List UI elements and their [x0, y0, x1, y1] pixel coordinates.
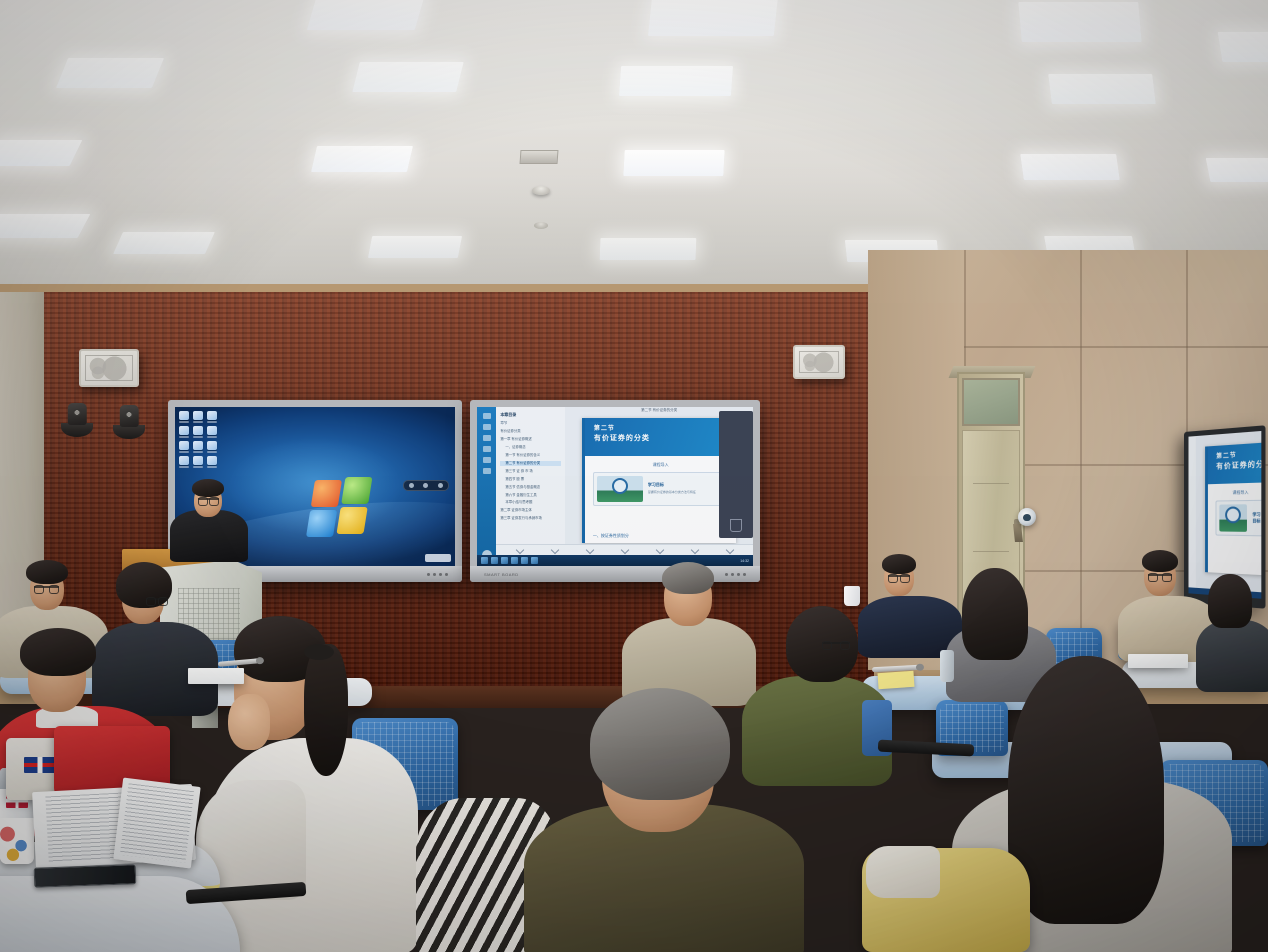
attendee-hair: [662, 562, 714, 594]
ceiling-light-panel: [1048, 74, 1156, 104]
slide-body: 课程导入 学习目标 掌握有价证券的基本分类方法与特征 一、按证券性质划分: [585, 456, 737, 544]
printed-handout-page[interactable]: [113, 778, 200, 869]
save-icon[interactable]: [483, 446, 491, 452]
water-bottle[interactable]: [940, 650, 954, 682]
right-interactive-whiteboard[interactable]: 本章目录 章节 有价证券分类 第一章 有价证券概述 一、证券概念 第一节 有价证…: [470, 400, 760, 582]
side-slide-card: 学习目标: [1215, 500, 1261, 537]
camera-bracket: [61, 423, 93, 437]
slide-title: 有价证券的分类: [594, 433, 737, 443]
camera-lens-icon: [125, 411, 132, 418]
desktop-icon-grid[interactable]: [179, 411, 217, 468]
file-icon[interactable]: [483, 413, 491, 419]
nav-item[interactable]: 第六节 金融衍生工具: [500, 493, 561, 498]
tool-icon[interactable]: [585, 546, 593, 554]
wall-speaker-left: [79, 349, 139, 387]
board-brand-label: SMART BOARD: [484, 572, 519, 577]
print-icon[interactable]: [483, 457, 491, 463]
desktop-icon[interactable]: [179, 456, 189, 468]
nav-item[interactable]: 一、证券概念: [500, 445, 561, 450]
ceiling-light-panel: [0, 214, 90, 238]
nav-item[interactable]: 第五节 债券与基金概念: [500, 485, 561, 490]
taskbar-app-icon[interactable]: [491, 557, 498, 564]
stone-seam: [1080, 250, 1082, 670]
nav-item[interactable]: 第一节 有价证券的含义: [500, 453, 561, 458]
ceiling-sensor-icon: [534, 222, 548, 229]
attendee-hair: [962, 568, 1028, 660]
screen-corner-widget[interactable]: [425, 554, 451, 562]
start-button[interactable]: [481, 557, 488, 564]
slide-footer: 一、按证券性质划分: [593, 533, 629, 539]
desktop-icon[interactable]: [193, 456, 203, 468]
desktop-icon[interactable]: [193, 426, 203, 438]
attendee-glasses-icon: [146, 598, 168, 600]
tool-icon[interactable]: [690, 546, 698, 554]
desktop-icon[interactable]: [193, 441, 203, 453]
hair-tie: [304, 644, 334, 660]
trash-icon[interactable]: [730, 519, 742, 532]
side-thumb-image: [1219, 504, 1247, 532]
ptz-camera-2: [113, 405, 145, 439]
slide-side-panel[interactable]: [719, 411, 753, 538]
coat-lining: [866, 846, 940, 898]
slide-card: 学习目标 掌握有价证券的基本分类方法与特征: [593, 472, 729, 506]
nav-item-selected[interactable]: 第二节 有价证券的分类: [500, 461, 561, 466]
nav-item[interactable]: 本章小结与思考题: [500, 500, 561, 505]
tool-icon[interactable]: [620, 546, 628, 554]
desktop-icon[interactable]: [207, 456, 217, 468]
app-left-rail[interactable]: [477, 407, 496, 566]
smoke-detector-icon: [532, 186, 550, 195]
board-button-row[interactable]: [427, 573, 448, 576]
ptz-camera-1: [61, 403, 93, 437]
tool-icon[interactable]: [725, 546, 733, 554]
presenter: [170, 478, 248, 558]
taskbar-app-icon[interactable]: [511, 557, 518, 564]
speaker-grill: [85, 355, 133, 381]
ceiling-light-panel: [0, 140, 82, 166]
door-transom-window: [962, 378, 1020, 426]
presentation-app[interactable]: 本章目录 章节 有价证券分类 第一章 有价证券概述 一、证券概念 第一节 有价证…: [477, 407, 753, 566]
presenter-hair: [192, 479, 224, 497]
nav-item[interactable]: 第三节 证 券 市 场: [500, 469, 561, 474]
ceiling-light-panel: [619, 66, 733, 96]
side-slide-title: 有价证券的分类: [1216, 458, 1261, 471]
floating-toolbar[interactable]: [403, 480, 449, 491]
ceiling-light-panel: [311, 146, 413, 172]
ceiling-light-panel: [623, 150, 724, 176]
ceiling-light-panel: [113, 232, 215, 254]
desktop-icon[interactable]: [207, 441, 217, 453]
camera-lens-icon: [73, 409, 80, 416]
ceiling-light-panel: [600, 238, 697, 260]
slide-caption: 课程导入: [593, 462, 729, 468]
nav-subheader: 章节: [500, 421, 561, 426]
slide-thumbnail-image: [597, 476, 643, 502]
wall-speaker-right: [793, 345, 845, 379]
open-icon[interactable]: [483, 435, 491, 441]
presenter-glasses-icon: [198, 498, 219, 500]
attendee-glasses-icon: [34, 586, 59, 588]
outline-nav-pane[interactable]: 本章目录 章节 有价证券分类 第一章 有价证券概述 一、证券概念 第一节 有价证…: [496, 407, 565, 566]
attendee-hair: [1008, 656, 1164, 924]
desktop-icon[interactable]: [179, 441, 189, 453]
share-icon[interactable]: [483, 468, 491, 474]
smartphone[interactable]: [34, 864, 137, 888]
nav-item[interactable]: 第一章 有价证券概述: [500, 437, 561, 442]
slide-title-band: 第二节 有价证券的分类: [585, 418, 737, 456]
nav-item[interactable]: 第三章 证券发行与承销市场: [500, 516, 561, 521]
menu-icon[interactable]: [438, 483, 443, 488]
camera-body: [120, 405, 139, 427]
paper-cup: [844, 586, 860, 606]
ceiling-light-panel: [648, 0, 778, 36]
attendee-glasses-icon: [888, 575, 910, 577]
attendee-hand: [228, 694, 270, 750]
desktop-icon[interactable]: [179, 411, 189, 423]
ceiling-light-panel: [352, 62, 463, 92]
eraser-icon[interactable]: [423, 483, 428, 488]
ceiling-light-panel: [1218, 32, 1268, 62]
slide-eyebrow: 第二节: [594, 423, 737, 432]
mug-pattern: [0, 818, 34, 864]
document-on-table: [1128, 654, 1188, 668]
attendee-hair: [20, 628, 96, 676]
presenter-torso: [170, 510, 248, 562]
side-slide-band: 第二节 有价证券的分类: [1208, 442, 1262, 484]
attendee-glasses-icon: [822, 642, 850, 644]
taskbar-app-icon[interactable]: [531, 557, 538, 564]
camera-bracket: [113, 425, 145, 439]
ceiling-light-panel: [1020, 154, 1120, 180]
attendee-hair: [26, 560, 68, 584]
attendee-hair: [1208, 574, 1252, 628]
side-card-title: 学习目标: [1252, 511, 1261, 524]
new-icon[interactable]: [483, 424, 491, 430]
camera-body: [68, 403, 87, 425]
nav-item[interactable]: 第四节 股 票: [500, 477, 561, 482]
nav-item[interactable]: 第二章 证券市场主体: [500, 508, 561, 513]
attendee-hair: [590, 688, 730, 800]
nav-current-doc[interactable]: 有价证券分类: [500, 429, 561, 434]
desktop-icon[interactable]: [207, 426, 217, 438]
tool-icon[interactable]: [516, 546, 524, 554]
desktop-icon[interactable]: [207, 411, 217, 423]
nav-header: 本章目录: [500, 412, 561, 418]
attendee-foreground-center: [524, 686, 804, 952]
classroom-scene: SMART BOARD 本章目录 章节 有价证券分类: [0, 0, 1268, 952]
ceiling-light-panel: [368, 236, 462, 258]
slide-canvas[interactable]: 第二节 有价证券的分类 第二节 有价证券的分类 课程导入 学习目标: [565, 407, 753, 566]
document-on-table: [188, 668, 244, 684]
handout-text-lines: [120, 783, 194, 863]
attendee-hair: [882, 554, 916, 574]
current-slide[interactable]: 第二节 有价证券的分类 课程导入 学习目标 掌握有价证券的基本分类方法与特征: [582, 418, 737, 543]
ceiling-light-panel: [56, 58, 164, 88]
speaker-grill: [799, 351, 839, 373]
right-board-screen[interactable]: 本章目录 章节 有价证券分类 第一章 有价证券概述 一、证券概念 第一节 有价证…: [477, 407, 753, 566]
attendee-glasses-icon: [1148, 574, 1172, 576]
card-body: 掌握有价证券的基本分类方法与特征: [648, 490, 696, 495]
yellow-notepad[interactable]: [877, 671, 914, 689]
taskbar-app-icon[interactable]: [521, 557, 528, 564]
attendee-beige-sweater: [622, 562, 756, 702]
union-jack-icon: [24, 757, 56, 773]
taskbar-app-icon[interactable]: [501, 557, 508, 564]
tool-icon[interactable]: [655, 546, 663, 554]
tool-icon[interactable]: [550, 546, 558, 554]
attendee-hair: [1142, 550, 1178, 572]
desktop-icon[interactable]: [179, 426, 189, 438]
ceiling-light-panel: [1018, 2, 1141, 42]
attendee-ponytail: [304, 644, 348, 776]
desktop-icon[interactable]: [193, 411, 203, 423]
card-title: 学习目标: [648, 482, 696, 488]
ceiling-air-vent: [520, 150, 559, 164]
side-slide-caption: 课程导入: [1215, 489, 1261, 496]
ceiling-light-panel: [1206, 158, 1268, 182]
wall-mounted-light: [1018, 508, 1036, 526]
ceiling-light-panel: [307, 0, 425, 30]
bottom-toolbar[interactable]: [496, 544, 753, 555]
pen-icon[interactable]: [409, 483, 414, 488]
